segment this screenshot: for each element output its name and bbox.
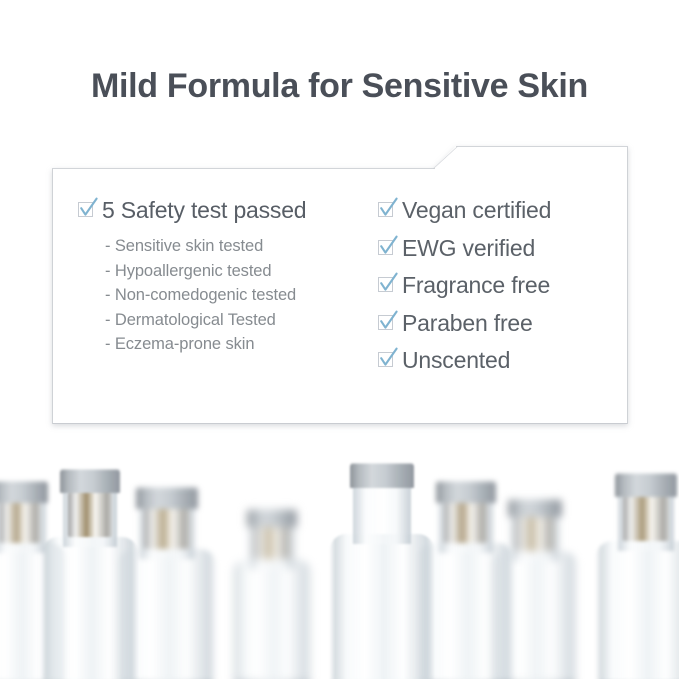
- bottle: [330, 463, 434, 679]
- safety-test-heading-row: 5 Safety test passed: [78, 198, 378, 223]
- bottle-collar: [515, 517, 555, 551]
- product-photo: [0, 440, 679, 679]
- certification-label: Fragrance free: [402, 273, 550, 298]
- certification-label: Unscented: [402, 348, 510, 373]
- checkbox-checked-icon: [378, 352, 395, 369]
- claims-card: 5 Safety test passed - Sensitive skin te…: [52, 146, 628, 424]
- list-item: - Sensitive skin tested: [105, 234, 378, 259]
- checkbox-checked-icon: [78, 202, 95, 219]
- bottle-collar: [68, 493, 112, 537]
- bottle-body: [232, 559, 312, 679]
- certification-row: EWG verified: [378, 236, 618, 261]
- checkbox-checked-icon: [378, 315, 395, 332]
- safety-test-label: 5 Safety test passed: [102, 198, 306, 223]
- bottle-collar: [254, 527, 291, 559]
- list-item: - Dermatological Tested: [105, 308, 378, 333]
- checkbox-checked-icon: [378, 277, 395, 294]
- safety-test-sublist: - Sensitive skin tested - Hypoallergenic…: [78, 234, 378, 357]
- bottle-cap: [0, 481, 48, 503]
- bottle-cap: [436, 481, 496, 503]
- page-title: Mild Formula for Sensitive Skin: [0, 67, 679, 106]
- bottle-body: [330, 534, 434, 679]
- bottle-collar: [144, 509, 190, 549]
- list-item: - Eczema-prone skin: [105, 332, 378, 357]
- certification-label: EWG verified: [402, 236, 535, 261]
- bottle-collar: [0, 503, 41, 543]
- bottle-cap: [350, 463, 414, 488]
- bottle-body: [42, 537, 138, 679]
- certification-row: Vegan certified: [378, 198, 618, 223]
- certifications-column: Vegan certified EWG verified: [378, 198, 618, 373]
- bottle-body: [596, 541, 679, 679]
- bottle-collar: [444, 503, 488, 543]
- checkbox-checked-icon: [378, 202, 395, 219]
- bottle-collar: [623, 497, 669, 541]
- infographic-page: Mild Formula for Sensitive Skin 5 Safety…: [0, 0, 679, 679]
- bottle: [232, 509, 312, 679]
- bottle-cap: [136, 487, 198, 509]
- bottle-cap: [615, 473, 677, 497]
- certification-label: Vegan certified: [402, 198, 551, 223]
- list-item: - Hypoallergenic tested: [105, 259, 378, 284]
- bottle-cap: [247, 509, 297, 527]
- certification-row: Unscented: [378, 348, 618, 373]
- safety-test-column: 5 Safety test passed - Sensitive skin te…: [78, 198, 378, 357]
- certification-label: Paraben free: [402, 311, 533, 336]
- checkbox-checked-icon: [378, 240, 395, 257]
- certification-row: Paraben free: [378, 311, 618, 336]
- bottle-collar: [359, 488, 406, 534]
- bottle-cap: [60, 469, 120, 493]
- certification-row: Fragrance free: [378, 273, 618, 298]
- card-columns: 5 Safety test passed - Sensitive skin te…: [52, 146, 628, 424]
- list-item: - Non-comedogenic tested: [105, 283, 378, 308]
- bottle: [596, 473, 679, 679]
- bottle-cap: [508, 499, 562, 517]
- bottle: [42, 469, 138, 679]
